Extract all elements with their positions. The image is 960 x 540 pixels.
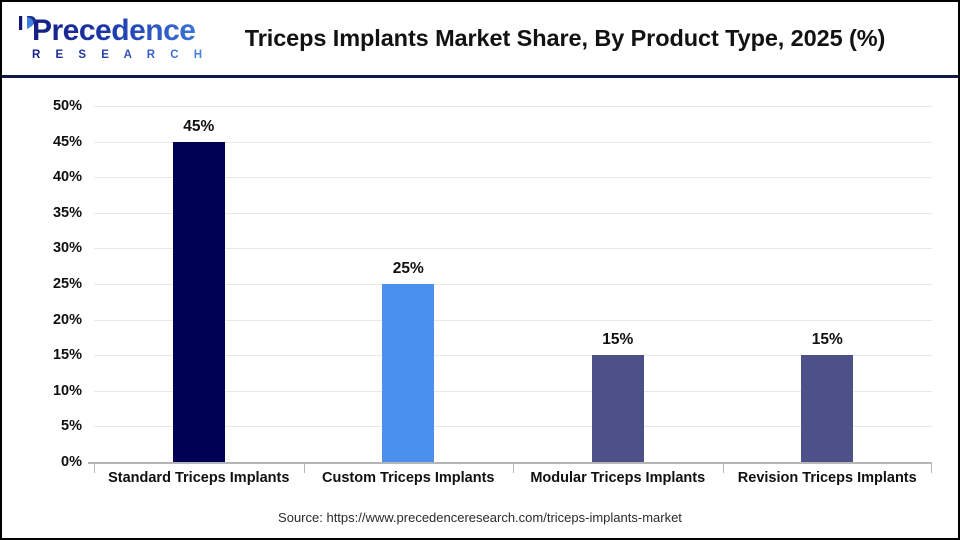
y-axis-tick-label: 5% [61,418,82,434]
chart-page: Precedence R E S E A R C H Triceps Impla… [0,0,960,540]
y-axis-tick-label: 35% [53,205,82,221]
y-axis-tick-label: 0% [61,454,82,470]
bar-slot: 15% [723,106,933,462]
y-axis-tick-label: 50% [53,98,82,114]
bar-series: 45%25%15%15% [94,106,932,462]
y-axis-tick-label: 10% [53,383,82,399]
x-axis-category-label: Modular Triceps Implants [513,470,723,486]
precedence-leaf-mark-icon [18,14,38,40]
x-axis-category-label: Custom Triceps Implants [304,470,514,486]
bar-value-label: 45% [183,118,214,136]
y-axis-tick-label: 45% [53,134,82,150]
bar[interactable] [173,142,225,462]
bar-slot: 45% [94,106,304,462]
chart-container: 50%45%40%35%30%25%20%15%10%5%0% 45%25%15… [2,78,958,538]
y-axis-tick-label: 25% [53,276,82,292]
brand-logo[interactable]: Precedence R E S E A R C H [2,16,212,61]
source-note: Source: https://www.precedenceresearch.c… [2,510,958,525]
y-axis-tick-label: 30% [53,240,82,256]
plot-area: 45%25%15%15% [94,106,932,462]
y-axis-labels: 50%45%40%35%30%25%20%15%10%5%0% [2,78,88,538]
logo-wordmark-text: Precedence [32,14,195,47]
bar-value-label: 25% [393,260,424,278]
bar[interactable] [382,284,434,462]
logo-subtitle: R E S E A R C H [16,49,212,61]
y-axis-tick-label: 15% [53,347,82,363]
page-header: Precedence R E S E A R C H Triceps Impla… [2,2,958,78]
x-axis-category-label: Standard Triceps Implants [94,470,304,486]
bar-slot: 25% [304,106,514,462]
bar-value-label: 15% [812,331,843,349]
x-axis-labels: Standard Triceps ImplantsCustom Triceps … [94,470,932,496]
y-axis-tick-label: 40% [53,169,82,185]
bar[interactable] [801,355,853,462]
logo-wordmark-row: Precedence [16,16,212,46]
bar-value-label: 15% [602,331,633,349]
y-axis-tick-label: 20% [53,312,82,328]
x-axis-category-label: Revision Triceps Implants [723,470,933,486]
page-title: Triceps Implants Market Share, By Produc… [212,25,958,52]
bar-slot: 15% [513,106,723,462]
bar[interactable] [592,355,644,462]
